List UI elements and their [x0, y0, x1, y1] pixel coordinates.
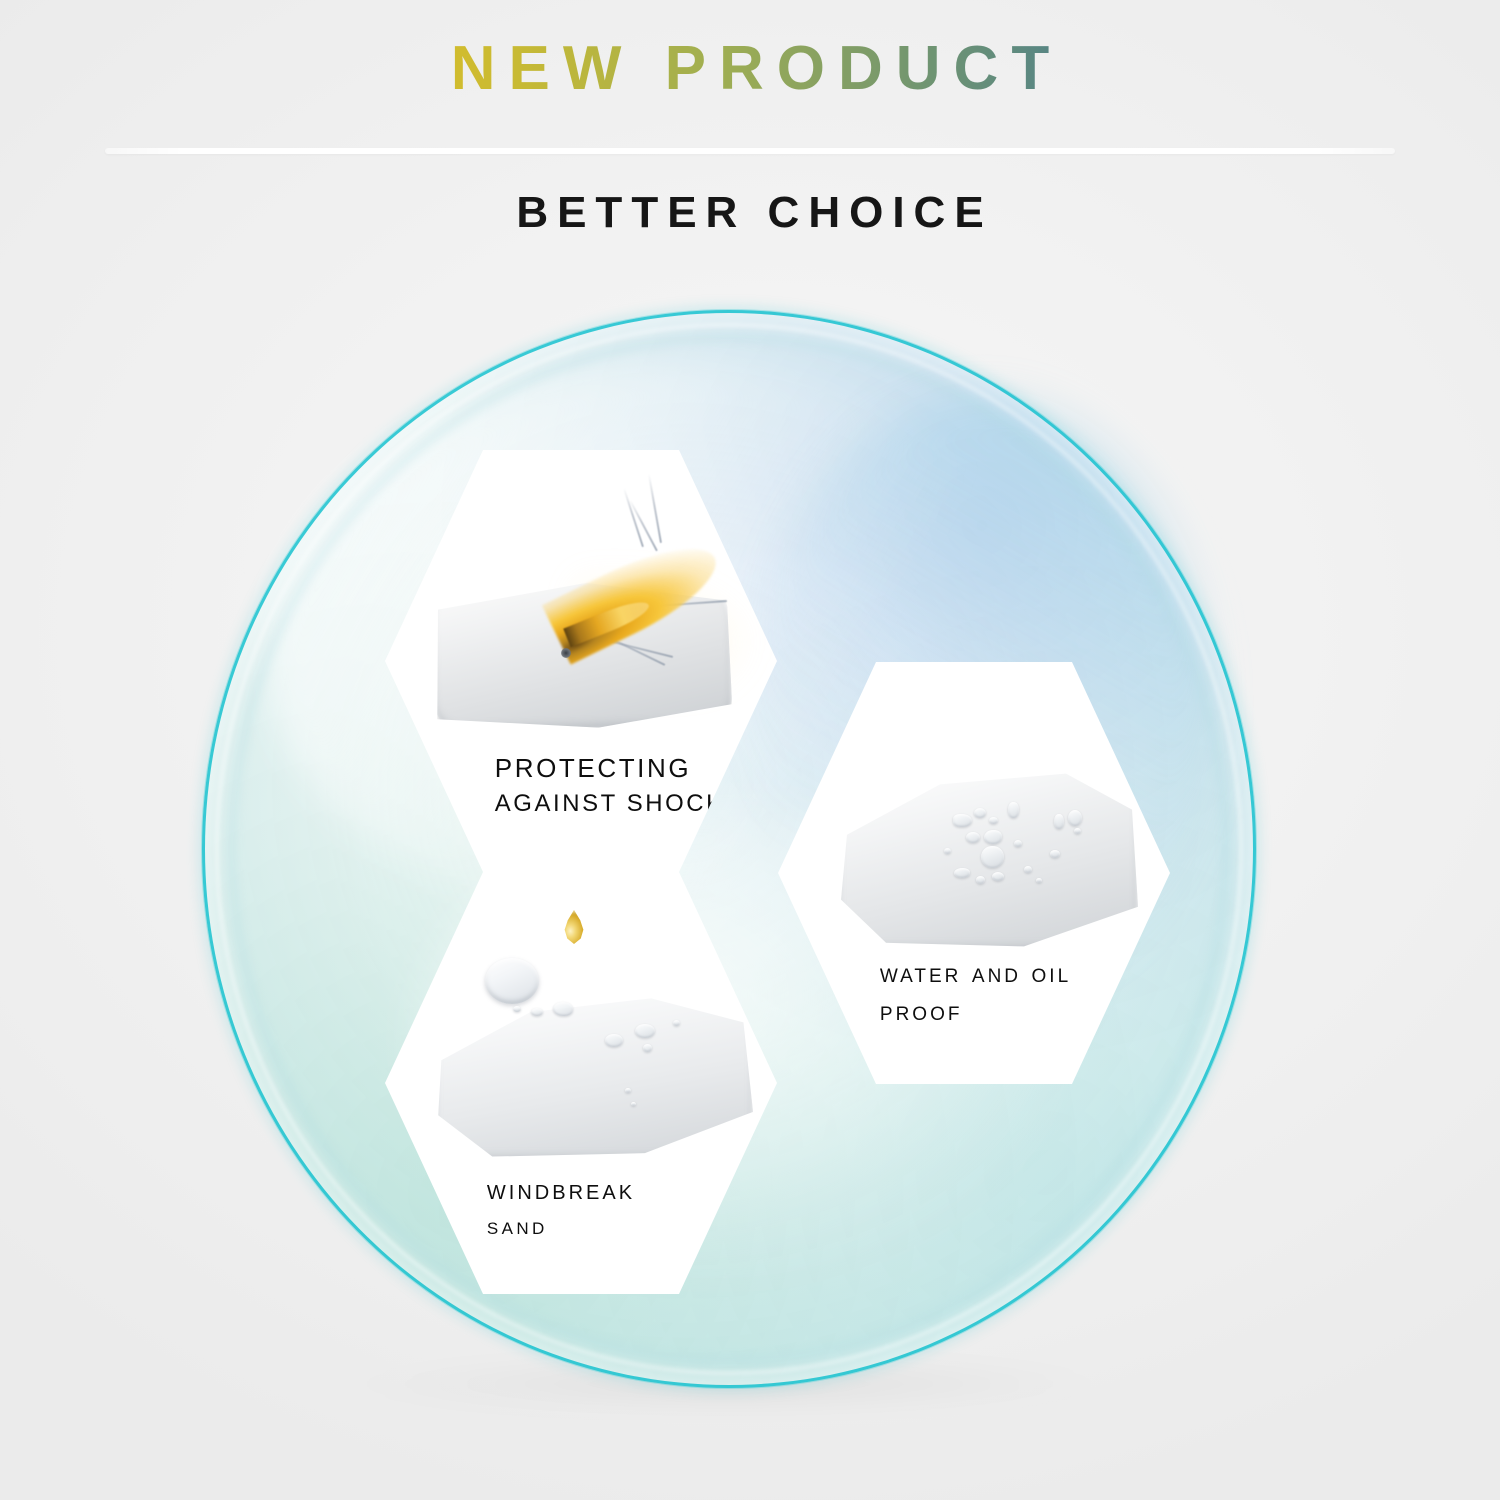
water-bead-icon	[513, 1006, 521, 1012]
water-bead-icon	[953, 814, 972, 827]
water-bead-icon	[976, 876, 985, 884]
debris-trail-icon	[648, 474, 662, 543]
feature-caption-line-1: Windbreak	[487, 1170, 754, 1210]
water-bead-icon	[531, 1008, 543, 1016]
water-bead-icon	[992, 872, 1004, 881]
water-bead-icon	[954, 868, 970, 878]
water-bead-icon	[984, 830, 1002, 844]
large-water-bead-icon	[485, 958, 539, 1004]
product-poster: NEW PRODUCT BETTER CHOICE PROTECTING AGA…	[0, 0, 1500, 1500]
feature-caption-line-1: Water and Oil	[880, 954, 1147, 992]
water-bead-icon	[1024, 866, 1032, 873]
water-bead-icon	[1036, 878, 1042, 883]
water-bead-icon	[1008, 802, 1019, 818]
water-bead-icon	[974, 808, 986, 818]
water-bead-icon	[1074, 828, 1081, 834]
oil-droplet-icon	[561, 910, 587, 944]
feature-caption-line-1: PROTECTING	[495, 750, 754, 787]
water-bead-icon	[631, 1102, 636, 1106]
water-bead-icon	[1054, 814, 1064, 829]
impact-point-icon	[561, 648, 571, 658]
water-bead-icon	[966, 832, 980, 843]
page-title: NEW PRODUCT	[0, 36, 1500, 103]
water-bead-icon	[635, 1024, 655, 1038]
water-bead-icon	[673, 1020, 680, 1026]
water-bead-icon	[643, 1044, 652, 1052]
lens-image-windbreak	[435, 988, 753, 1160]
water-bead-icon	[625, 1088, 631, 1093]
water-bead-icon	[981, 846, 1004, 868]
title-divider	[105, 148, 1395, 154]
water-bead-icon	[605, 1034, 623, 1047]
water-bead-icon	[944, 848, 951, 854]
water-bead-icon	[553, 1002, 573, 1016]
page-subtitle: BETTER CHOICE	[0, 188, 1500, 238]
water-bead-icon	[989, 817, 998, 824]
water-bead-icon	[1014, 840, 1022, 847]
water-bead-icon	[1068, 810, 1082, 826]
water-bead-icon	[1050, 850, 1060, 858]
